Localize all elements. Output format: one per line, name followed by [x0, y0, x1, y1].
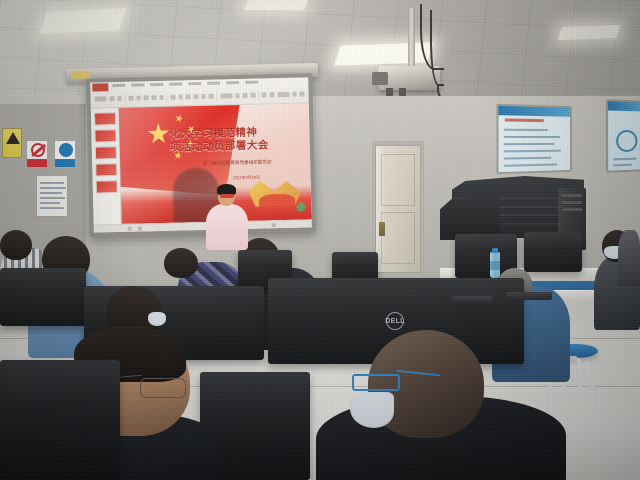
- monitor-left: [0, 268, 86, 326]
- attendee-floral-head: [164, 248, 198, 278]
- stool-footrest-ring: [552, 388, 592, 396]
- ceiling-light-1: [39, 8, 126, 34]
- sign-caption-bar: [55, 159, 75, 167]
- door-handle[interactable]: [379, 222, 385, 236]
- screen-roller-tab: [72, 70, 90, 78]
- info-board-certificate: [606, 99, 640, 173]
- attendee-child-face-mask: [148, 312, 166, 326]
- mandatory-circle: [59, 143, 73, 157]
- attendee-striped-head: [0, 230, 32, 260]
- no-smoking-sign: [26, 140, 48, 168]
- powerpoint-file-tab[interactable]: [92, 83, 108, 91]
- warning-sign: [2, 128, 22, 158]
- ceiling-light-3: [244, 0, 308, 10]
- classroom-door[interactable]: [375, 145, 421, 273]
- far-right-attendee-body: [618, 230, 640, 286]
- board-header: [499, 106, 570, 117]
- keyboard-right[interactable]: [506, 292, 552, 300]
- projector-cable-2: [430, 10, 444, 86]
- bottle-cap: [492, 248, 498, 253]
- keyboard-right-2[interactable]: [452, 296, 492, 303]
- board-seal: [616, 130, 637, 152]
- water-bottle[interactable]: [490, 252, 500, 278]
- mandatory-sign: [54, 140, 76, 168]
- ceiling-light-2: [334, 42, 434, 65]
- blue-frame-glasses: [352, 374, 400, 391]
- slide-thumbnail-panel[interactable]: [91, 108, 122, 225]
- monitor-bottom-left: [0, 360, 120, 480]
- ceiling-light-4: [558, 25, 620, 40]
- notice-sheet: [36, 175, 68, 217]
- projector-lens: [372, 72, 388, 85]
- wire-frame-glasses: [140, 378, 186, 398]
- projector-mount-pole: [408, 8, 415, 70]
- sign-caption-bar: [27, 159, 47, 167]
- bottle-label: [490, 261, 500, 270]
- powerpoint-tab-strip[interactable]: [112, 80, 258, 87]
- classroom-photo: 化大学习模范精神 项活动动员部署大会 厦门海沧区教育局党委组织委员会 2022年…: [0, 0, 640, 480]
- board-header: [608, 101, 640, 111]
- info-board-rules: [496, 104, 571, 175]
- dell-logo-text: DELL: [385, 318, 404, 325]
- board-title-bar: [505, 118, 544, 122]
- dell-logo: DELL: [386, 312, 404, 330]
- powerpoint-toolbar[interactable]: [94, 89, 304, 103]
- foreground-man-face-mask: [350, 392, 394, 428]
- monitor-far-right: [524, 232, 582, 272]
- presenter-face-accent: [220, 194, 234, 198]
- projection-screen: 化大学习模范精神 项活动动员部署大会 厦门海沧区教育局党委组织委员会 2022年…: [90, 77, 312, 232]
- presenter-body: [206, 204, 248, 250]
